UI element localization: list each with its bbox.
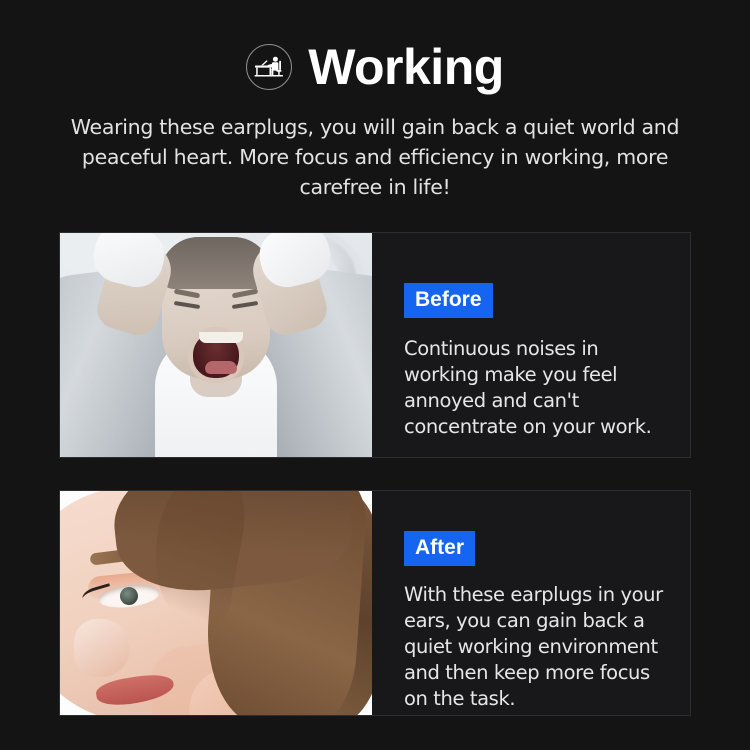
after-badge: After	[404, 531, 475, 566]
product-feature-page: Working Wearing these earplugs, you will…	[0, 0, 750, 750]
before-card-body: Before Continuous noises in working make…	[372, 233, 690, 457]
page-header: Working Wearing these earplugs, you will…	[0, 36, 750, 202]
after-card-body: After With these earplugs in your ears, …	[372, 491, 690, 715]
before-card-image	[60, 233, 372, 457]
after-card: After With these earplugs in your ears, …	[59, 490, 691, 716]
page-subtitle: Wearing these earplugs, you will gain ba…	[0, 112, 750, 202]
person-at-desk-icon	[246, 44, 292, 90]
screaming-mouth	[188, 327, 244, 383]
before-card: Before Continuous noises in working make…	[59, 232, 691, 458]
woman-with-earplug-photo	[60, 491, 372, 715]
stressed-woman-photo	[60, 233, 372, 457]
nose	[74, 619, 130, 677]
before-card-text: Continuous noises in working make you fe…	[404, 336, 664, 440]
comparison-cards: Before Continuous noises in working make…	[59, 232, 691, 716]
after-card-image	[60, 491, 372, 715]
after-card-text: With these earplugs in your ears, you ca…	[404, 582, 664, 712]
page-title: Working	[308, 42, 504, 92]
before-badge: Before	[404, 283, 493, 318]
title-row: Working	[0, 36, 750, 98]
